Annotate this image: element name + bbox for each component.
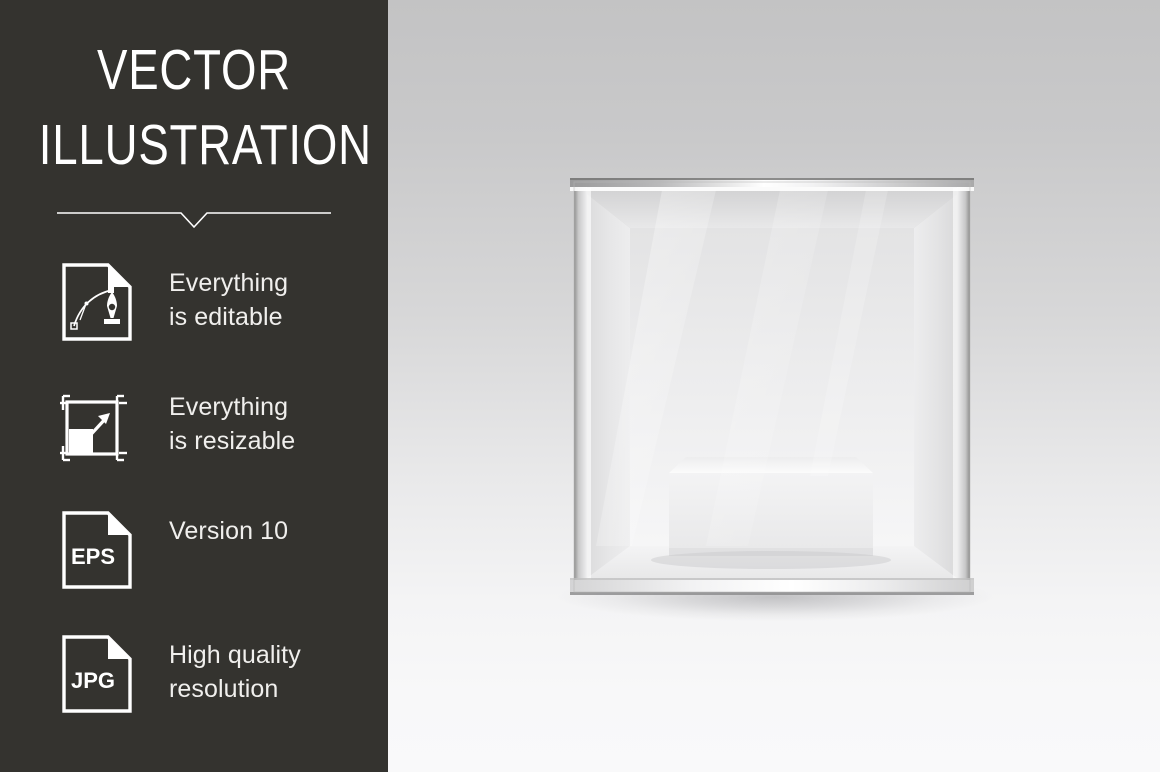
cube-edge-right [957, 186, 970, 588]
poster-canvas: VECTOR ILLUSTRATION [0, 0, 1160, 772]
jpg-file-icon: JPG [60, 634, 134, 714]
feature-label-line-2: is resizable [169, 424, 384, 458]
feature-label-line-2: is editable [169, 300, 384, 334]
feature-label: Everything is resizable [169, 390, 384, 458]
feature-list: Everything is editable [0, 262, 388, 758]
title-line-2: ILLUSTRATION [39, 117, 349, 174]
list-item: EPS Version 10 [0, 510, 388, 634]
info-sidebar: VECTOR ILLUSTRATION [0, 0, 388, 772]
eps-file-icon-label: EPS [71, 544, 115, 569]
page-title: VECTOR ILLUSTRATION [0, 42, 388, 174]
feature-label-line-1: Everything [169, 390, 384, 424]
feature-label-line-2: resolution [169, 672, 384, 706]
pen-tool-document-icon [60, 262, 134, 342]
list-item: JPG High quality resolution [0, 634, 388, 758]
list-item: Everything is resizable [0, 386, 388, 510]
feature-label: Version 10 [169, 514, 384, 548]
feature-label: High quality resolution [169, 638, 384, 706]
jpg-file-icon-label: JPG [71, 668, 115, 693]
feature-label-line-1: Version 10 [169, 514, 384, 548]
resize-arrow-icon [60, 386, 134, 466]
white-pedestal-box [669, 457, 873, 556]
cube-edge-left [574, 186, 587, 588]
cube-top-plate [570, 178, 974, 191]
feature-label: Everything is editable [169, 266, 384, 334]
feature-label-line-1: High quality [169, 638, 384, 672]
eps-file-icon: EPS [60, 510, 134, 590]
v-notch-divider [57, 205, 331, 231]
title-line-1: VECTOR [39, 42, 349, 99]
list-item: Everything is editable [0, 262, 388, 386]
glass-showcase-cube [566, 176, 978, 598]
feature-label-line-1: Everything [169, 266, 384, 300]
